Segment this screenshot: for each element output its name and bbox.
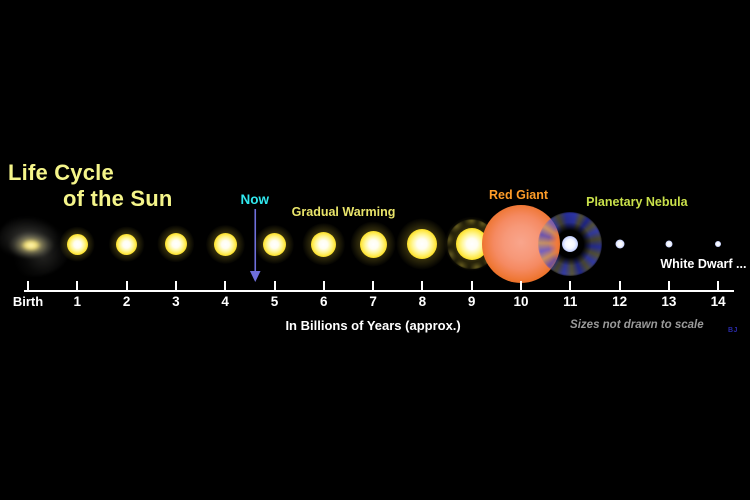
main-sequence-star [165,233,187,255]
timeline-tick [619,281,621,290]
timeline-tick [224,281,226,290]
timeline-tick [323,281,325,290]
life-cycle-of-the-sun-figure: Life Cycle of the Sun Gradual Warming Re… [0,0,750,500]
timeline-tick-label: 2 [123,294,131,309]
timeline-tick [717,281,719,290]
white-dwarf-star [665,241,672,248]
main-sequence-star [311,232,336,257]
timeline-tick-label: 12 [612,294,627,309]
star-core [360,231,387,258]
timeline-tick [471,281,473,290]
axis-caption: In Billions of Years (approx.) [285,318,460,333]
timeline-tick-label: 6 [320,294,328,309]
timeline-tick-label: 11 [563,294,577,309]
main-sequence-star [67,234,88,255]
star-core [67,234,88,255]
timeline-tick-label: 14 [711,294,726,309]
timeline-tick [569,281,571,290]
white-dwarf-star [715,241,721,247]
timeline-tick-label: 10 [513,294,528,309]
star-core [116,234,137,255]
star-core [165,233,187,255]
timeline-tick-label: 1 [74,294,82,309]
timeline-axis [24,290,734,292]
timeline-tick-label: 8 [419,294,427,309]
timeline-tick-label: 4 [221,294,229,309]
timeline-tick-label: 7 [369,294,377,309]
star-core [311,232,336,257]
planetary-nebula-core [562,236,578,252]
scale-note: Sizes not drawn to scale [570,319,704,331]
star-core [407,229,437,259]
timeline-tick [27,281,29,290]
artist-signature: BJ [728,327,738,334]
timeline-tick [126,281,128,290]
now-label: Now [241,192,270,207]
timeline-tick [421,281,423,290]
main-sequence-star [214,233,237,256]
now-marker: Now [241,192,270,283]
white-dwarf-star [615,240,624,249]
timeline-tick [520,281,522,290]
down-arrow-icon [248,209,261,283]
birth-nebula [0,212,71,276]
timeline-tick-label: 9 [468,294,476,309]
timeline-tick-label: Birth [13,294,43,309]
timeline-tick-label: 3 [172,294,180,309]
timeline-tick-label: 5 [271,294,279,309]
timeline-tick [175,281,177,290]
main-sequence-star [116,234,137,255]
timeline-tick [76,281,78,290]
timeline-tick-label: 13 [661,294,676,309]
main-sequence-star [360,231,387,258]
red-giant-star [482,205,560,283]
star-sequence [0,0,750,500]
main-sequence-star [407,229,437,259]
timeline-tick [668,281,670,290]
star-core [214,233,237,256]
timeline-tick [372,281,374,290]
timeline-tick [274,281,276,290]
